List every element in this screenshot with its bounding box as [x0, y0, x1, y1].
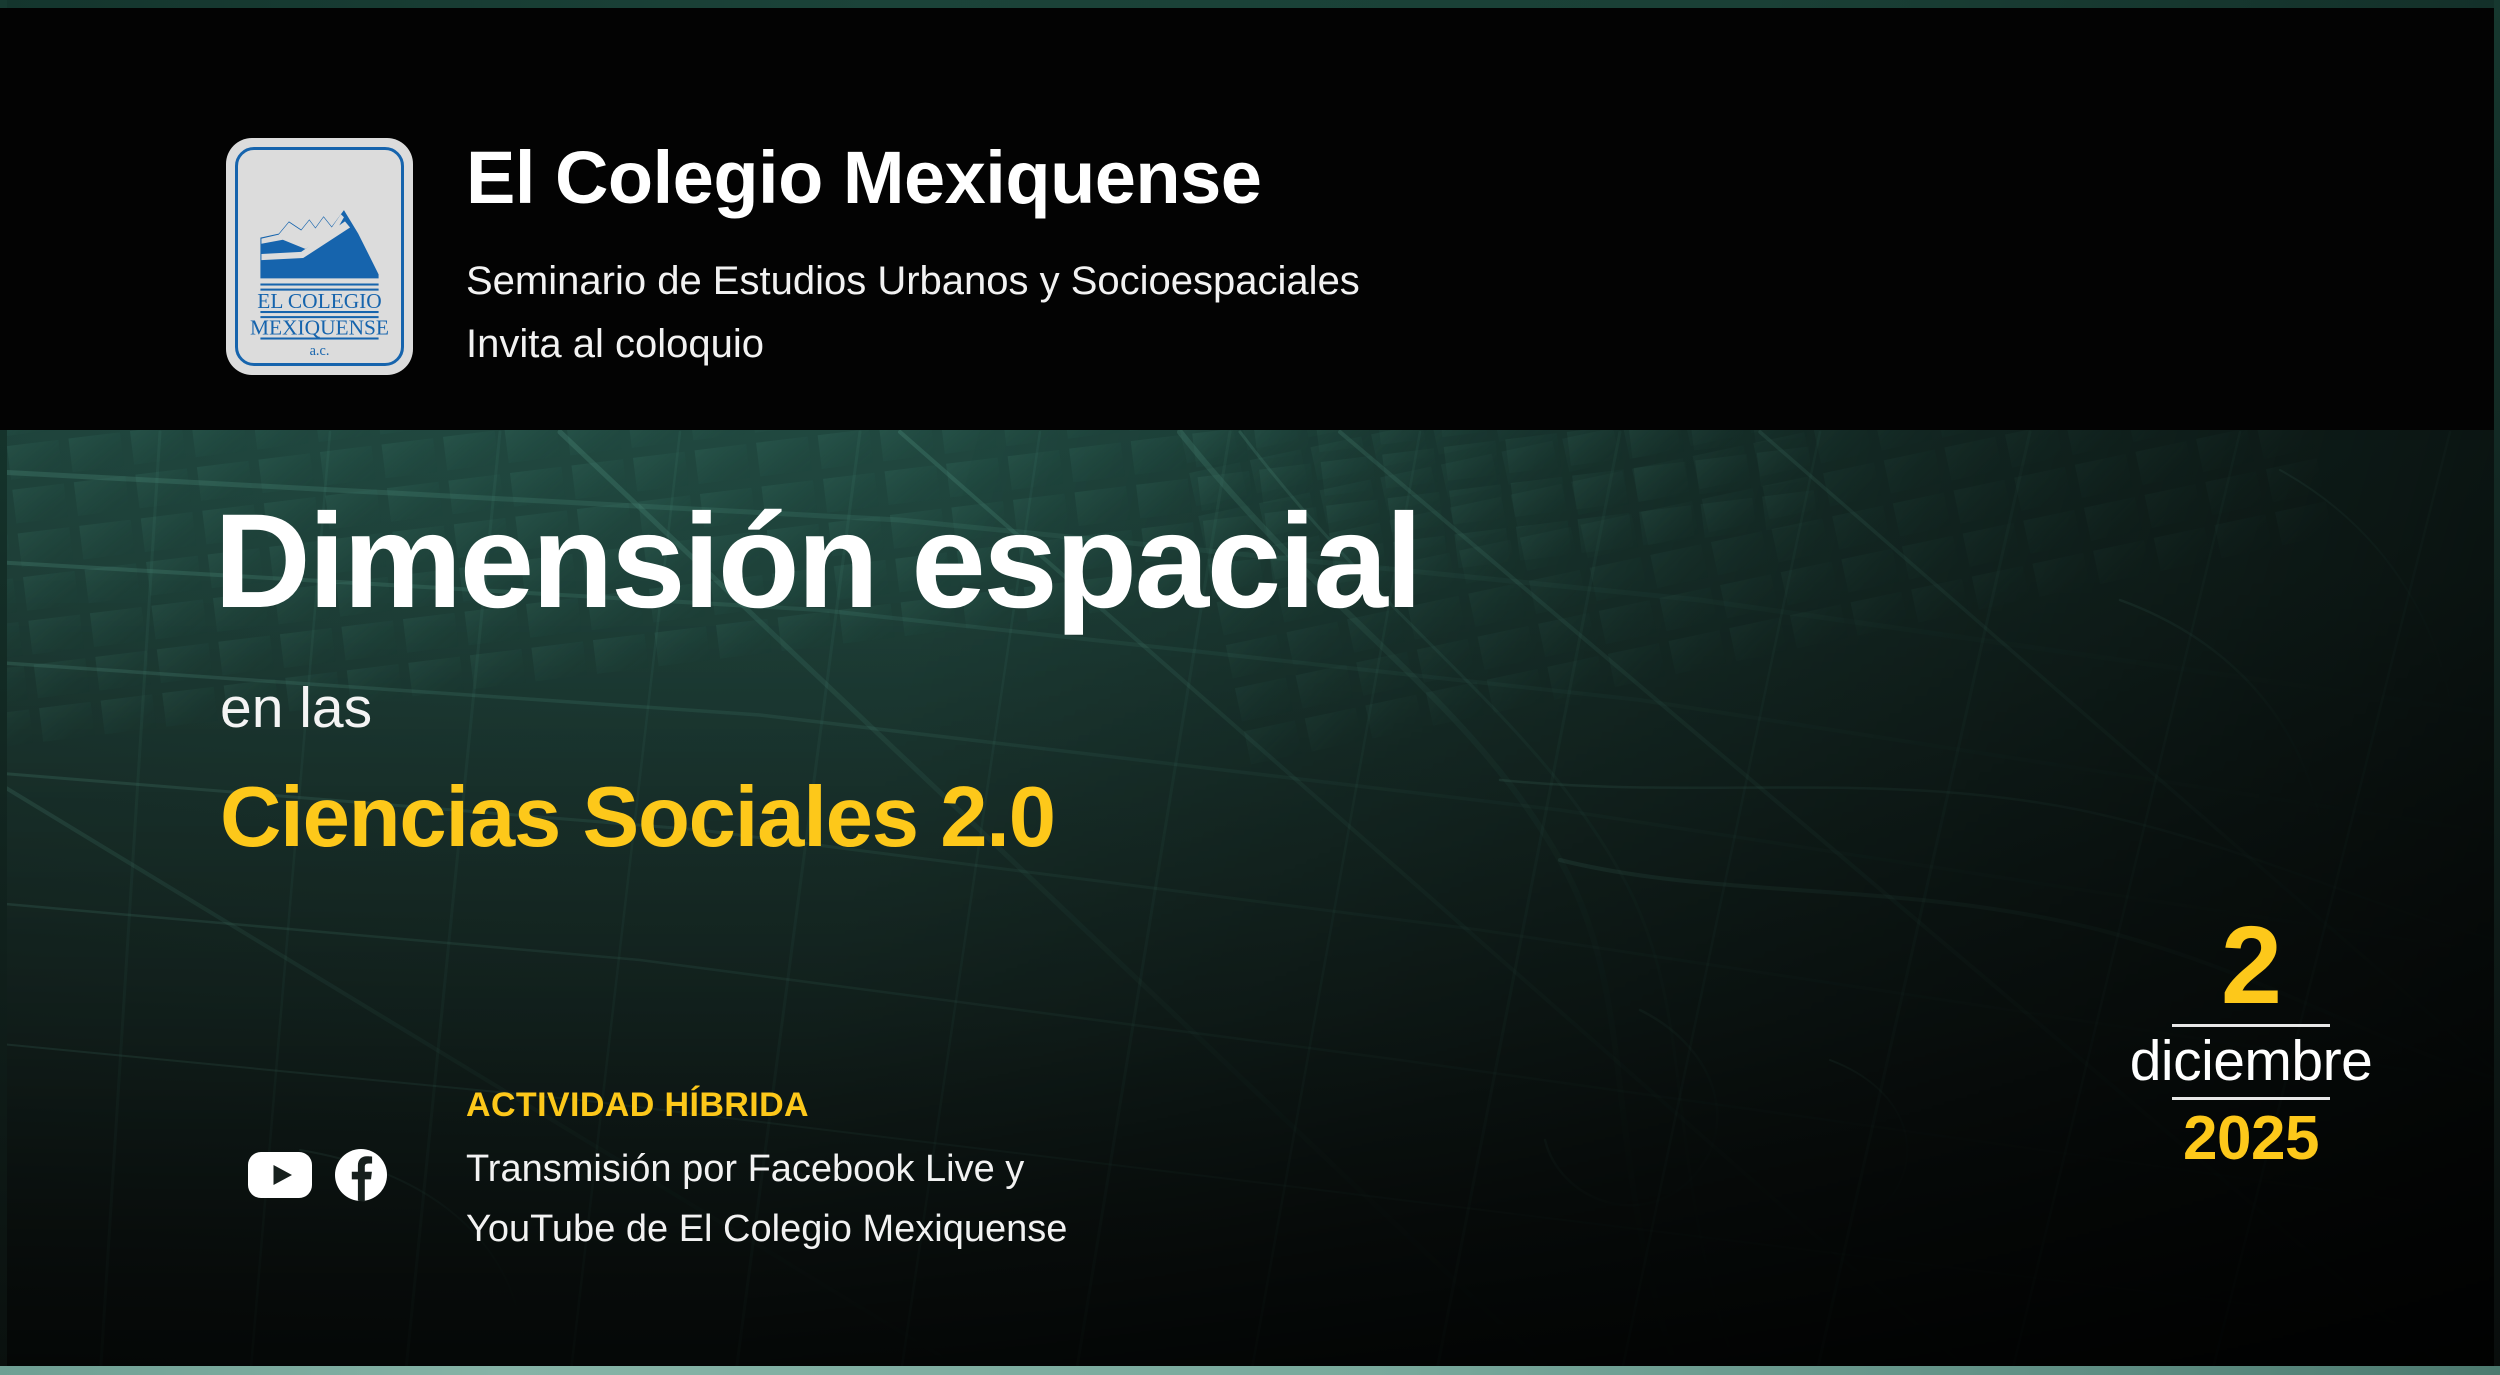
- youtube-icon[interactable]: [248, 1152, 312, 1198]
- top-edge-strip: [0, 0, 2500, 8]
- event-poster: EL COLEGIO MEXIQUENSE a.c. El Colegio Me…: [0, 0, 2500, 1375]
- logo-line3: a.c.: [310, 343, 330, 359]
- event-title: Dimensión espacial: [214, 495, 1420, 629]
- bottom-edge-strip: [0, 1366, 2500, 1375]
- seminar-subtitle: Seminario de Estudios Urbanos y Socioesp…: [466, 261, 1360, 301]
- date-divider-bottom: [2172, 1097, 2330, 1100]
- logo-border: EL COLEGIO MEXIQUENSE a.c.: [235, 147, 404, 366]
- logo-line1: EL COLEGIO: [257, 289, 381, 313]
- event-subtitle-accent: Ciencias Sociales 2.0: [220, 775, 1055, 860]
- logo-card: EL COLEGIO MEXIQUENSE a.c.: [226, 138, 413, 375]
- organization-title: El Colegio Mexiquense: [466, 141, 1261, 215]
- stream-info-line2: YouTube de El Colegio Mexiquense: [466, 1210, 1067, 1248]
- date-year: 2025: [2116, 1108, 2386, 1170]
- date-month: diciembre: [2116, 1031, 2386, 1093]
- date-day: 2: [2116, 915, 2386, 1016]
- stream-info-line1: Transmisión por Facebook Live y: [466, 1150, 1067, 1188]
- hybrid-activity-label: ACTIVIDAD HÍBRIDA: [466, 1088, 1067, 1122]
- footer-info: ACTIVIDAD HÍBRIDA Transmisión por Facebo…: [466, 1088, 1067, 1248]
- event-date-block: 2 diciembre 2025: [2116, 915, 2386, 1170]
- right-edge-strip: [2494, 0, 2500, 1375]
- header-band: EL COLEGIO MEXIQUENSE a.c. El Colegio Me…: [0, 8, 2494, 430]
- social-icons-group: [248, 1148, 388, 1202]
- invitation-subtitle: Invita al coloquio: [466, 324, 764, 364]
- facebook-icon[interactable]: [334, 1148, 388, 1202]
- logo-artwork: EL COLEGIO MEXIQUENSE a.c.: [238, 150, 401, 363]
- title-connector: en las: [220, 680, 372, 737]
- institution-logo: EL COLEGIO MEXIQUENSE a.c.: [226, 138, 413, 375]
- logo-line2: MEXIQUENSE: [250, 315, 389, 339]
